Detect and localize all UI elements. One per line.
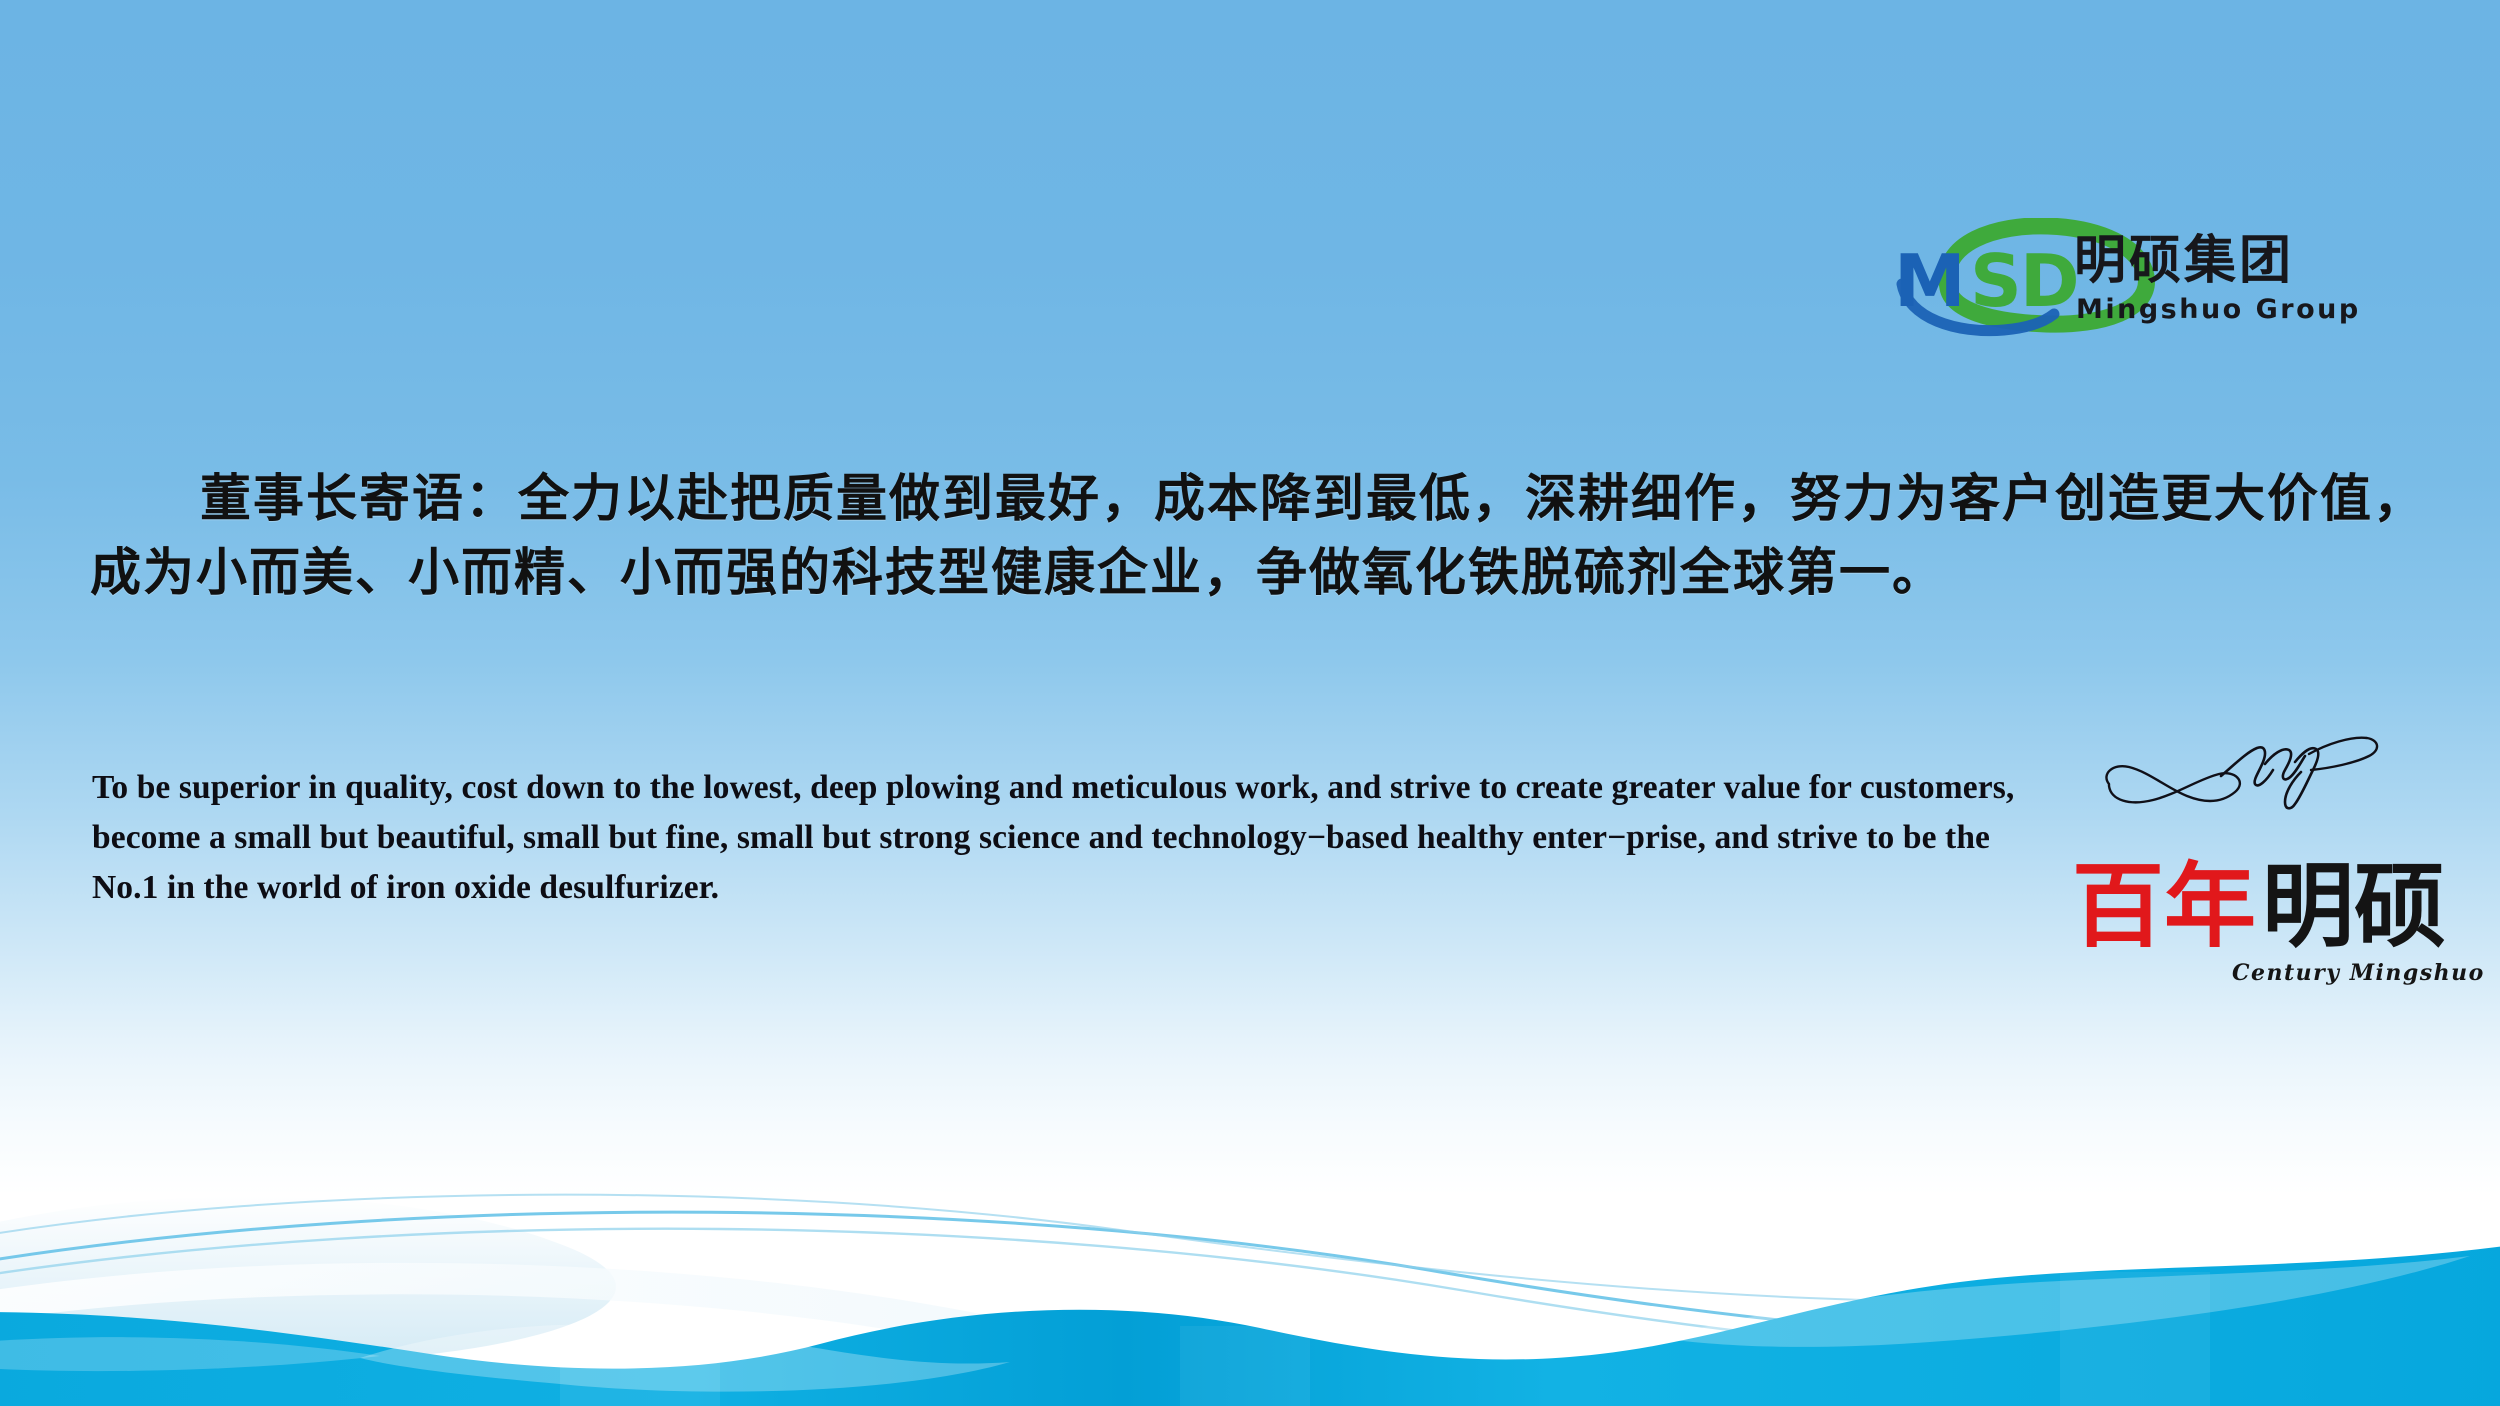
logo-letter-m: M [1894, 239, 1966, 323]
chairman-signature-icon [2095, 730, 2395, 835]
seal-red-characters: 百年 [2072, 852, 2256, 960]
logo-company-cn: 明硕集团 [2074, 231, 2294, 291]
logo-company-en: Mingshuo Group [2076, 294, 2358, 325]
century-mingshuo-seal: 百年明硕 Century Mingshuo [2072, 856, 2442, 1016]
seal-black-characters: 明硕 [2262, 852, 2446, 960]
seal-characters: 百年明硕 [2072, 856, 2446, 956]
chairman-message-english: To be superior in quality, cost down to … [92, 763, 2022, 913]
logo-letters-sd: SD [1970, 239, 2078, 323]
chairman-message-chinese: 董事长寄语：全力以赴把质量做到最好，成本降到最低，深耕细作，努力为客户创造更大价… [90, 462, 2430, 610]
seal-subtitle: Century Mingshuo [2232, 960, 2485, 986]
bottom-wave-graphic [0, 1076, 2500, 1406]
slide-canvas: M SD 明硕集团 Mingshuo Group 董事长寄语：全力以赴把质量做到… [0, 0, 2500, 1406]
mingshuo-group-logo: M SD 明硕集团 Mingshuo Group [1878, 218, 2358, 338]
